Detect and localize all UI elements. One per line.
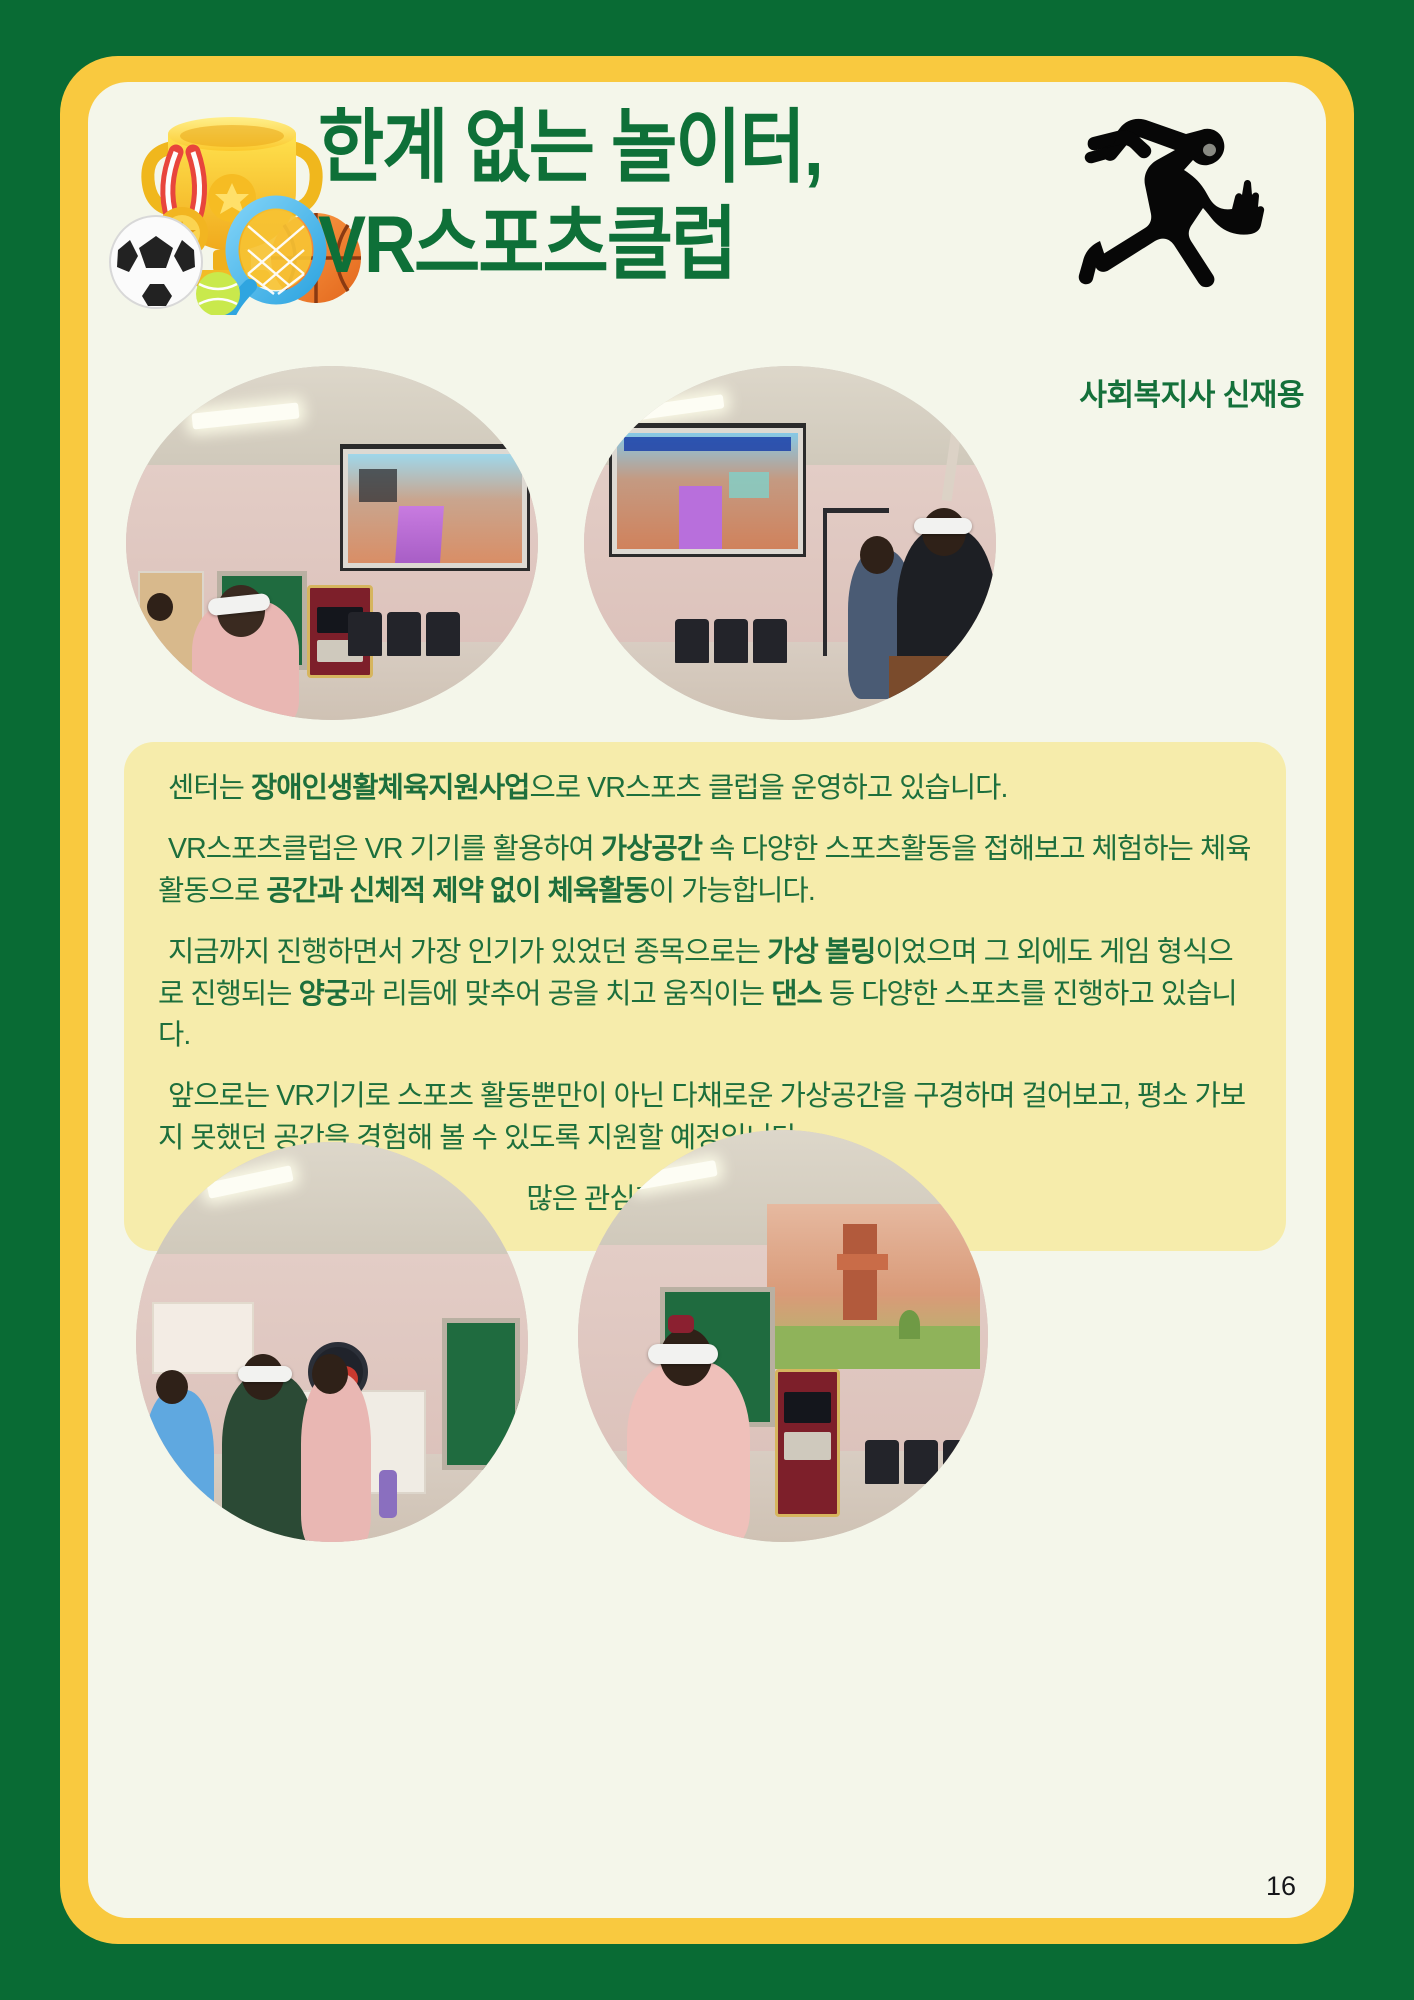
- paragraph-1: 센터는 장애인생활체육지원사업으로 VR스포츠 클럽을 운영하고 있습니다.: [158, 768, 1252, 810]
- run-text-bold: 양궁: [299, 978, 350, 1010]
- run-text-bold: 공간과 신체적 제약 없이 체육활동: [266, 875, 649, 907]
- page-number: 16: [1266, 1871, 1296, 1902]
- page-content-area: 한계 없는 놀이터, VR스포츠클럽 사회복지사 신재용: [88, 82, 1326, 1918]
- run-text-bold: 가상 볼링: [767, 936, 875, 968]
- run-text-bold: 댄스: [771, 978, 822, 1010]
- page-background: 한계 없는 놀이터, VR스포츠클럽 사회복지사 신재용: [0, 0, 1414, 2000]
- photo-vr-bowling-projection-right: [584, 366, 996, 720]
- photo-vr-bowling-projection-left: [126, 366, 538, 720]
- running-athlete-silhouette-icon: [1058, 94, 1288, 294]
- photo-vr-gameplay-screen: [578, 1130, 988, 1542]
- author-byline: 사회복지사 신재용: [1079, 370, 1304, 414]
- paragraph-2: VR스포츠클럽은 VR 기기를 활용하여 가상공간 속 다양한 스포츠활동을 접…: [158, 829, 1252, 913]
- run-text: 이 가능합니다.: [649, 875, 815, 907]
- title-line-1: 한계 없는 놀이터,: [318, 102, 918, 195]
- run-text: 지금까지 진행하면서 가장 인기가 있었던 종목으로는: [168, 936, 767, 968]
- title-line-2: VR스포츠클럽: [318, 199, 918, 292]
- photo-vr-archery-session: [136, 1142, 528, 1542]
- run-text: 센터는: [168, 772, 251, 804]
- page-header: 한계 없는 놀이터, VR스포츠클럽 사회복지사 신재용: [88, 82, 1326, 402]
- run-text-bold: 장애인생활체육지원사업: [251, 772, 530, 804]
- run-text-bold: 가상공간: [601, 833, 702, 865]
- run-text: 으로 VR스포츠 클럽을 운영하고 있습니다.: [530, 772, 1008, 804]
- run-text: VR스포츠클럽은 VR 기기를 활용하여: [168, 833, 601, 865]
- paragraph-3: 지금까지 진행하면서 가장 인기가 있었던 종목으로는 가상 볼링이었으며 그 …: [158, 932, 1252, 1058]
- page-title: 한계 없는 놀이터, VR스포츠클럽: [318, 102, 918, 282]
- run-text: 과 리듬에 맞추어 공을 치고 움직이는: [349, 978, 771, 1010]
